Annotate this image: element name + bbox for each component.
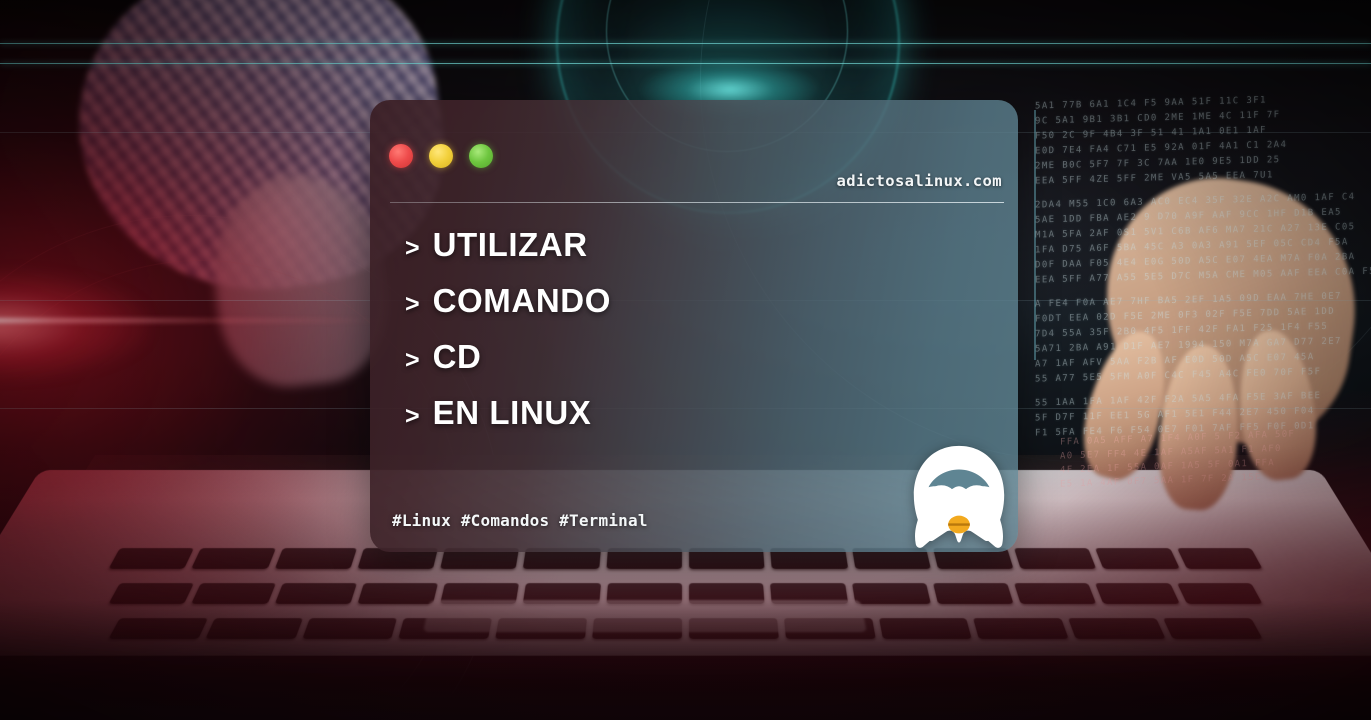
poster-canvas: 5A1 77B 6A1 1C4 F5 9AA 51F 11C 3F1 9C 5A… (0, 0, 1371, 720)
close-button-icon[interactable] (389, 144, 413, 168)
prompt-caret-icon: > (405, 404, 420, 429)
header-divider (390, 202, 1004, 203)
command-line: > CD (405, 340, 611, 396)
command-text: CD (433, 340, 482, 373)
prompt-caret-icon: > (405, 236, 420, 261)
terminal-window: adictosalinux.com > UTILIZAR > COMANDO >… (370, 100, 1018, 552)
command-list: > UTILIZAR > COMANDO > CD > EN LINUX (405, 228, 611, 452)
command-text: UTILIZAR (433, 228, 588, 261)
command-text: EN LINUX (433, 396, 592, 429)
site-domain-label: adictosalinux.com (837, 172, 1002, 190)
window-controls (389, 144, 493, 168)
command-line: > UTILIZAR (405, 228, 611, 284)
command-text: COMANDO (433, 284, 611, 317)
prompt-caret-icon: > (405, 348, 420, 373)
prompt-caret-icon: > (405, 292, 420, 317)
hashtag-list: #Linux #Comandos #Terminal (392, 511, 648, 530)
maximize-button-icon[interactable] (469, 144, 493, 168)
command-line: > EN LINUX (405, 396, 611, 452)
command-line: > COMANDO (405, 284, 611, 340)
tux-penguin-icon (900, 442, 1018, 552)
minimize-button-icon[interactable] (429, 144, 453, 168)
